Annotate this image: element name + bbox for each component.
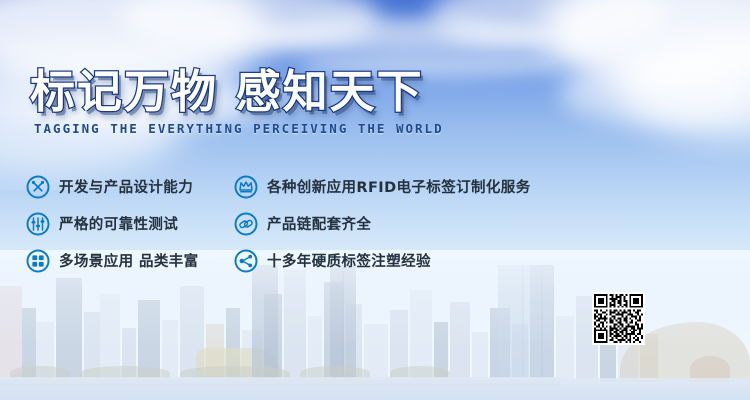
grid-icon	[26, 249, 50, 273]
feature-item: 产品链配套齐全	[234, 205, 654, 242]
feature-item: 十多年硬质标签注塑经验	[234, 242, 654, 279]
feature-item: 多场景应用 品类丰富	[26, 242, 231, 279]
feature-label: 开发与产品设计能力	[59, 176, 193, 197]
feature-label: 严格的可靠性测试	[59, 213, 178, 234]
waterfront	[0, 378, 750, 400]
feature-label: 各种创新应用RFID电子标签订制化服务	[267, 176, 531, 197]
feature-label: 十多年硬质标签注塑经验	[267, 250, 431, 271]
qr-code-graphic	[594, 294, 643, 343]
tools-icon	[26, 175, 50, 199]
feature-column-left: 开发与产品设计能力 严格的可	[26, 168, 231, 279]
link-icon	[234, 212, 258, 236]
sliders-icon	[26, 212, 50, 236]
share-icon	[234, 249, 258, 273]
feature-item: 各种创新应用RFID电子标签订制化服务	[234, 168, 654, 205]
feature-column-right: 各种创新应用RFID电子标签订制化服务 产品链配套齐全	[234, 168, 654, 279]
headline-block: 标记万物 感知天下 TAGGING THE EVERYTHING PERCEIV…	[30, 68, 444, 136]
crown-icon	[234, 175, 258, 199]
banner-subheadline: TAGGING THE EVERYTHING PERCEIVING THE WO…	[34, 121, 444, 136]
qr-code[interactable]	[592, 292, 645, 345]
feature-label: 多场景应用 品类丰富	[59, 250, 199, 271]
banner-headline: 标记万物 感知天下	[30, 68, 444, 115]
banner-stage: 标记万物 感知天下 TAGGING THE EVERYTHING PERCEIV…	[0, 0, 750, 400]
feature-item: 开发与产品设计能力	[26, 168, 231, 205]
feature-item: 严格的可靠性测试	[26, 205, 231, 242]
feature-label: 产品链配套齐全	[267, 213, 371, 234]
